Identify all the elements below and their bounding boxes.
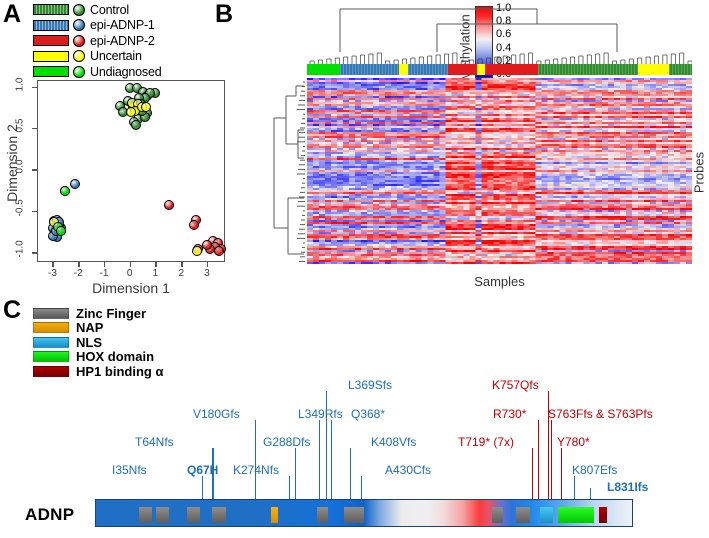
y-tick-label: 1.0: [15, 76, 26, 92]
mutation-label: K274Nfs: [233, 463, 279, 477]
legend-dot: [73, 66, 85, 78]
y-tick-label: 0.0: [15, 159, 26, 175]
mutation-tick-line: [295, 448, 296, 499]
mutation-tick-line: [532, 448, 533, 499]
mutation-tick-line: [289, 476, 290, 499]
legend-swatch: [33, 66, 69, 77]
protein-domain-hp1-binding: [599, 507, 607, 523]
panel-b-y-axis-label: Probes: [692, 123, 707, 223]
y-tick: [32, 128, 37, 130]
scatter-point: [202, 240, 212, 250]
y-tick: [32, 211, 37, 213]
mutation-label: L349Rfs: [298, 407, 343, 421]
mutation-label: Y780*: [557, 435, 590, 449]
legend-item-uncertain: Uncertain: [33, 49, 161, 65]
protein-domain-zinc-finger: [492, 507, 503, 523]
domain-legend-label: NLS: [76, 335, 102, 350]
mutation-label: S763Ffs & S763Pfs: [548, 407, 653, 421]
sample-group-segment-epi-adnp-1: [340, 64, 400, 75]
sample-annotation-bar: [307, 64, 692, 75]
x-tick-label: -3: [41, 268, 63, 279]
domain-legend-item: HOX domain: [33, 350, 163, 365]
mutation-label: G288Dfs: [263, 435, 310, 449]
legend-swatch: [33, 51, 69, 62]
protein-name-label: ADNP: [25, 505, 74, 525]
legend-item-undiagnosed: Undiagnosed: [33, 64, 161, 80]
legend-dot: [73, 4, 85, 16]
legend-item-epi-adnp-2: epi-ADNP-2: [33, 33, 161, 49]
panel-c-domain-legend: Zinc FingerNAPNLSHOX domainHP1 binding α: [33, 306, 163, 379]
y-tick: [32, 87, 37, 89]
panel-b-heatmap: B Methylation 1.00.80.60.40.20.0 Samples…: [215, 0, 709, 300]
domain-legend-item: NAP: [33, 321, 163, 336]
legend-label: Undiagnosed: [90, 65, 161, 79]
mutation-label: L831Ifs: [607, 480, 648, 494]
legend-swatch: [33, 4, 69, 15]
x-tick-label: 0: [119, 268, 141, 279]
legend-label: Uncertain: [90, 49, 142, 63]
mutation-label: L369Sfs: [348, 378, 392, 392]
sample-group-segment-undiagnosed: [307, 64, 340, 75]
sample-group-segment-uncertain: [399, 64, 407, 75]
legend-label: Control: [90, 3, 129, 17]
mutation-tick-line: [538, 420, 539, 499]
domain-legend-item: HP1 binding α: [33, 364, 163, 379]
panel-a-letter: A: [3, 2, 21, 27]
mutation-tick-line: [255, 420, 256, 499]
sample-group-segment-uncertain: [477, 64, 485, 75]
x-tick: [207, 262, 209, 267]
mutation-tick-line: [574, 476, 575, 499]
x-tick-label: -2: [67, 268, 89, 279]
mutation-label: Q368*: [351, 407, 385, 421]
legend-dot: [73, 19, 85, 31]
scatter-point: [60, 186, 70, 196]
legend-label: epi-ADNP-2: [90, 34, 155, 48]
heatmap-row: [307, 262, 692, 264]
domain-legend-label: HP1 binding α: [76, 364, 163, 379]
legend-dot: [73, 35, 85, 47]
legend-swatch: [33, 20, 69, 31]
panel-c-letter: C: [3, 298, 21, 323]
mutation-label: K757Qfs: [492, 378, 539, 392]
mutation-tick-line: [361, 476, 362, 499]
domain-legend-item: NLS: [33, 335, 163, 350]
panel-a-mds-scatter: A Controlepi-ADNP-1epi-ADNP-2UncertainUn…: [0, 0, 232, 300]
sample-group-segment-uncertain: [638, 64, 668, 75]
row-dendrogram: [272, 78, 306, 264]
sample-group-segment-epi-adnp-1: [408, 64, 448, 75]
x-tick: [52, 262, 54, 267]
x-tick-label: 2: [170, 268, 192, 279]
sample-group-segment-epi-adnp-2: [485, 64, 538, 75]
mutation-tick-line: [202, 476, 203, 499]
mutation-label: T719* (7x): [458, 435, 514, 449]
x-tick-label: -1: [93, 268, 115, 279]
scatter-point: [56, 226, 66, 236]
panel-a-plot-area: [37, 80, 225, 262]
legend-item-epi-adnp-1: epi-ADNP-1: [33, 18, 161, 34]
y-tick: [32, 252, 37, 254]
mutation-label: T64Nfs: [135, 435, 174, 449]
legend-dot: [73, 50, 85, 62]
sample-group-segment-control: [669, 64, 692, 75]
protein-domain-zinc-finger: [344, 507, 364, 523]
adnp-protein-bar: [95, 499, 633, 527]
scatter-point: [141, 102, 151, 112]
mutation-tick-line: [551, 420, 552, 499]
sample-group-segment-control: [538, 64, 639, 75]
protein-domain-hox-domain: [558, 507, 594, 523]
mutation-tick-line: [561, 448, 562, 499]
domain-legend-label: NAP: [76, 320, 103, 335]
legend-label: epi-ADNP-1: [90, 18, 155, 32]
mutation-label: V180Gfs: [193, 407, 240, 421]
protein-domain-zinc-finger: [139, 507, 152, 523]
x-tick: [155, 262, 157, 267]
mutation-tick-line: [326, 391, 327, 499]
domain-legend-label: Zinc Finger: [76, 306, 146, 321]
protein-domain-zinc-finger: [212, 507, 226, 523]
panel-c-protein-diagram: C Zinc FingerNAPNLSHOX domainHP1 binding…: [0, 288, 709, 538]
x-tick-label: 1: [144, 268, 166, 279]
scatter-point: [70, 179, 80, 189]
mutation-tick-line: [319, 420, 320, 499]
x-tick: [181, 262, 183, 267]
domain-legend-label: HOX domain: [76, 349, 154, 364]
mutation-tick-line: [213, 448, 214, 499]
legend-swatch: [33, 35, 69, 46]
x-tick: [130, 262, 132, 267]
y-tick-label: 0.5: [15, 117, 26, 133]
x-tick: [78, 262, 80, 267]
mutation-label: A430Cfs: [385, 463, 431, 477]
x-tick: [104, 262, 106, 267]
protein-domain-zinc-finger: [187, 507, 200, 523]
protein-domain-zinc-finger: [516, 507, 530, 523]
domain-legend-item: Zinc Finger: [33, 306, 163, 321]
scatter-point: [131, 120, 141, 130]
panel-a-legend: Controlepi-ADNP-1epi-ADNP-2UncertainUndi…: [33, 2, 161, 80]
scatter-point: [189, 220, 199, 230]
domain-legend-swatch: [33, 351, 69, 362]
protein-domain-nap: [271, 507, 278, 523]
domain-legend-swatch: [33, 366, 69, 377]
scatter-point: [192, 246, 202, 256]
mutation-tick-line: [331, 420, 332, 499]
protein-domain-zinc-finger: [156, 507, 169, 523]
mutation-tick-line: [350, 448, 351, 499]
domain-legend-swatch: [33, 337, 69, 348]
panel-b-x-axis-label: Samples: [307, 274, 692, 289]
mutation-label: I35Nfs: [112, 463, 147, 477]
scatter-point: [164, 200, 174, 210]
mutation-tick-line: [590, 488, 591, 499]
column-dendrogram-leaves: [307, 52, 692, 64]
domain-legend-swatch: [33, 322, 69, 333]
domain-legend-swatch: [33, 308, 69, 319]
mutation-label: K807Efs: [572, 463, 617, 477]
heatmap-grid: [307, 78, 692, 264]
y-tick-label: -1.0: [15, 242, 26, 258]
y-tick-label: -0.5: [15, 200, 26, 216]
sample-group-segment-epi-adnp-2: [448, 64, 477, 75]
mutation-label: K408Vfs: [371, 435, 416, 449]
panel-b-letter: B: [215, 2, 233, 27]
legend-item-control: Control: [33, 2, 161, 18]
y-tick: [32, 169, 37, 171]
protein-domain-zinc-finger: [317, 507, 328, 523]
protein-domain-nls: [540, 507, 553, 523]
mutation-label: R730*: [493, 407, 526, 421]
